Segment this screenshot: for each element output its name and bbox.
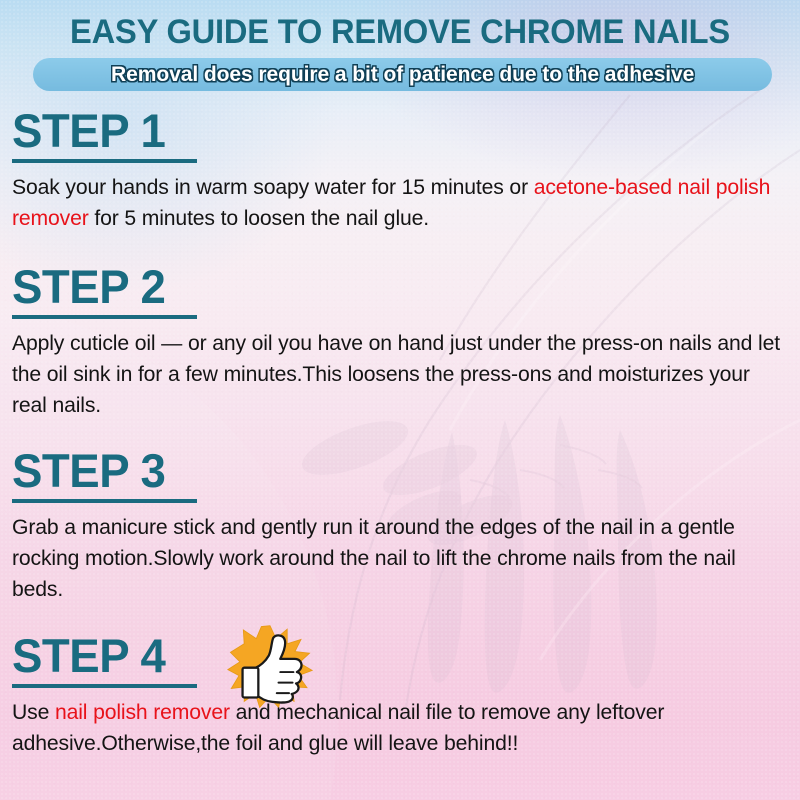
step-heading-row: STEP 4 (12, 633, 792, 688)
step-section-3: STEP 3 Grab a manicure stick and gently … (12, 448, 792, 605)
step-body: Apply cuticle oil — or any oil you have … (12, 328, 780, 421)
page-title: EASY GUIDE TO REMOVE CHROME NAILS (16, 13, 784, 52)
step-title-underline (12, 684, 197, 688)
highlight-text: nail polish remover (55, 700, 230, 724)
step-heading-row: STEP 3 (12, 448, 792, 503)
step-title: STEP 1 (12, 108, 191, 154)
subtitle-banner: Removal does require a bit of patience d… (33, 58, 772, 91)
step-title: STEP 4 (12, 633, 191, 679)
step-body: Use nail polish remover and mechanical n… (12, 697, 780, 759)
step-title: STEP 3 (12, 448, 191, 494)
step-title-underline (12, 315, 197, 319)
step-section-1: STEP 1 Soak your hands in warm soapy wat… (12, 108, 792, 234)
body-text: Apply cuticle oil — or any oil you have … (12, 331, 780, 417)
step-section-4: STEP 4 (12, 633, 792, 759)
subtitle-text: Removal does require a bit of patience d… (111, 62, 694, 87)
poster-content: EASY GUIDE TO REMOVE CHROME NAILS Remova… (0, 0, 800, 800)
body-text: Soak your hands in warm soapy water for … (12, 175, 534, 199)
step-heading-row: STEP 2 (12, 264, 792, 319)
step-title-underline (12, 499, 197, 503)
body-text: Use (12, 700, 55, 724)
step-title-underline (12, 159, 197, 163)
body-text: Grab a manicure stick and gently run it … (12, 515, 736, 601)
step-title: STEP 2 (12, 264, 191, 310)
body-text: for 5 minutes to loosen the nail glue. (89, 206, 429, 230)
infographic-poster: EASY GUIDE TO REMOVE CHROME NAILS Remova… (0, 0, 800, 800)
step-body: Grab a manicure stick and gently run it … (12, 512, 780, 605)
step-body: Soak your hands in warm soapy water for … (12, 172, 780, 234)
step-heading-row: STEP 1 (12, 108, 792, 163)
step-section-2: STEP 2 Apply cuticle oil — or any oil yo… (12, 264, 792, 421)
